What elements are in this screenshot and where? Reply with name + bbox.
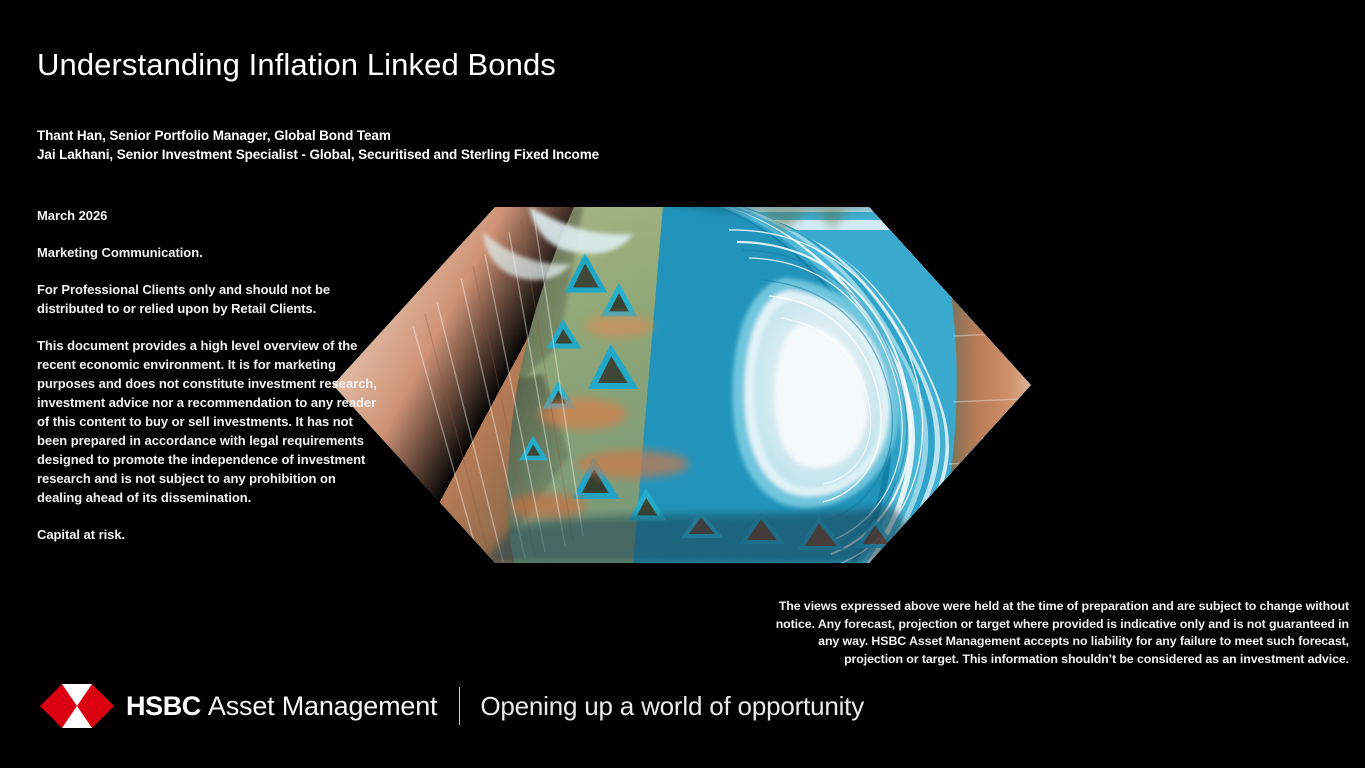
brand-lockup: HSBC Asset Management [126, 693, 437, 720]
brand-divider [459, 687, 460, 725]
author-block: Thant Han, Senior Portfolio Manager, Glo… [37, 126, 599, 164]
disclaimer-text: The views expressed above were held at t… [771, 598, 1349, 668]
document-notice: This document provides a high level over… [37, 336, 382, 507]
hero-image-hexagon [333, 206, 1031, 564]
agate-illustration [333, 206, 1031, 564]
author-line-1: Thant Han, Senior Portfolio Manager, Glo… [37, 126, 599, 145]
brand-footer: HSBC Asset Management Opening up a world… [40, 681, 864, 731]
left-column: March 2026 Marketing Communication. For … [37, 206, 382, 562]
presentation-slide: Understanding Inflation Linked Bonds Tha… [0, 0, 1365, 768]
page-title: Understanding Inflation Linked Bonds [37, 47, 556, 83]
brand-name: HSBC [126, 693, 201, 720]
marketing-communication-label: Marketing Communication. [37, 243, 382, 262]
hsbc-hexagon-logo-icon [40, 684, 114, 728]
brand-tagline: Opening up a world of opportunity [480, 691, 864, 722]
audience-notice: For Professional Clients only and should… [37, 280, 382, 318]
publication-date: March 2026 [37, 206, 382, 225]
brand-division: Asset Management [208, 693, 437, 720]
risk-warning: Capital at risk. [37, 525, 382, 544]
author-line-2: Jai Lakhani, Senior Investment Specialis… [37, 145, 599, 164]
